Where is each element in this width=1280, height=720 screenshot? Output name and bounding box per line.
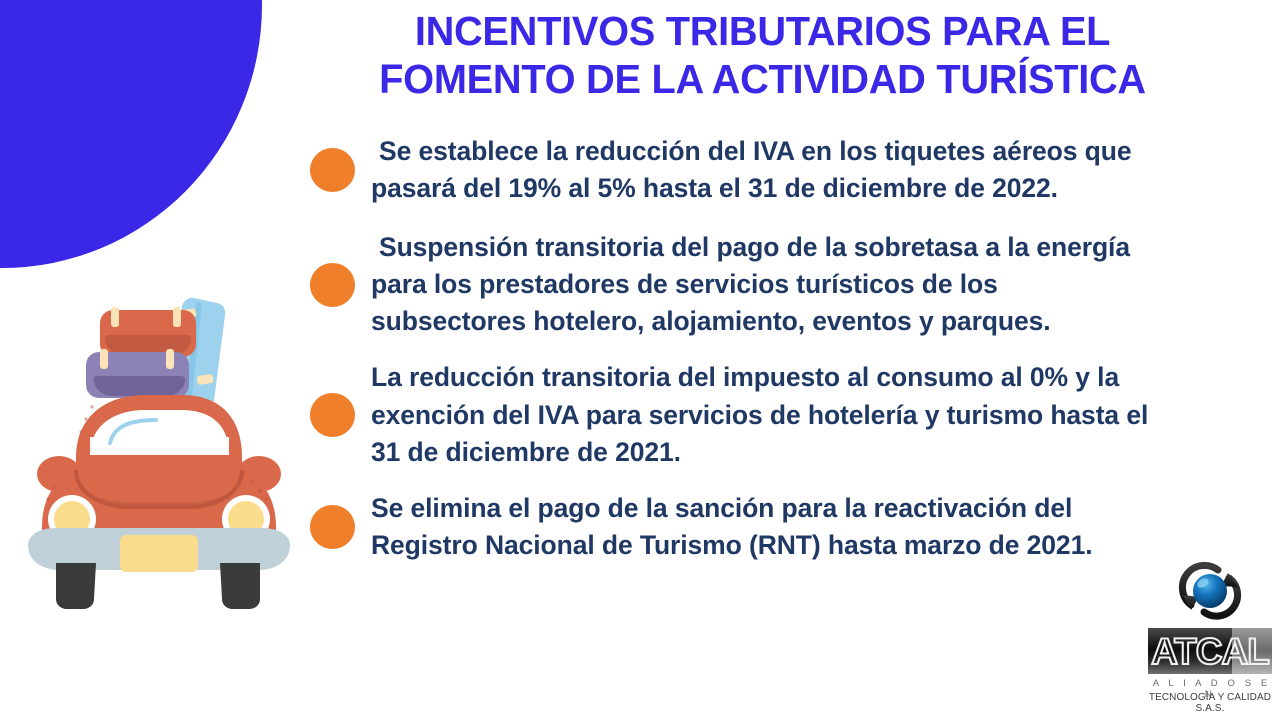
car-with-luggage-illustration — [14, 277, 304, 617]
bullet-dot-icon — [310, 263, 355, 307]
bullet-dot-icon — [310, 148, 355, 192]
license-plate — [120, 535, 198, 572]
suitcase-orange — [100, 307, 196, 357]
slide-canvas: INCENTIVOS TRIBUTARIOS PARA EL FOMENTO D… — [0, 0, 1280, 720]
list-item: La reducción transitoria del impuesto al… — [310, 359, 1160, 470]
list-item: Se elimina el pago de la sanción para la… — [310, 490, 1160, 564]
atcal-wordmark: ATCAL — [1148, 628, 1272, 674]
atcal-logo: ATCAL A L I A D O S E N TECNOLOGÍA Y CAL… — [1148, 558, 1272, 716]
list-item-text: Se elimina el pago de la sanción para la… — [371, 490, 1160, 564]
list-item-text: Suspensión transitoria del pago de la so… — [371, 229, 1160, 340]
suitcase-purple — [86, 349, 189, 398]
page-title: INCENTIVOS TRIBUTARIOS PARA EL FOMENTO D… — [343, 8, 1182, 104]
blue-quarter-circle-decoration — [0, 0, 262, 268]
atcal-tagline-line2: TECNOLOGÍA Y CALIDAD S.A.S. — [1148, 692, 1272, 714]
atcal-sphere-arrows-icon — [1168, 558, 1252, 624]
bullet-dot-icon — [310, 505, 355, 549]
list-item: Se establece la reducción del IVA en los… — [310, 133, 1160, 207]
bullet-dot-icon — [310, 393, 355, 437]
list-item: Suspensión transitoria del pago de la so… — [310, 229, 1160, 340]
list-item-text: Se establece la reducción del IVA en los… — [371, 133, 1160, 207]
list-item-text: La reducción transitoria del impuesto al… — [371, 359, 1160, 470]
bullet-list: Se establece la reducción del IVA en los… — [310, 133, 1160, 583]
atcal-wordmark-text: ATCAL — [1151, 633, 1269, 670]
